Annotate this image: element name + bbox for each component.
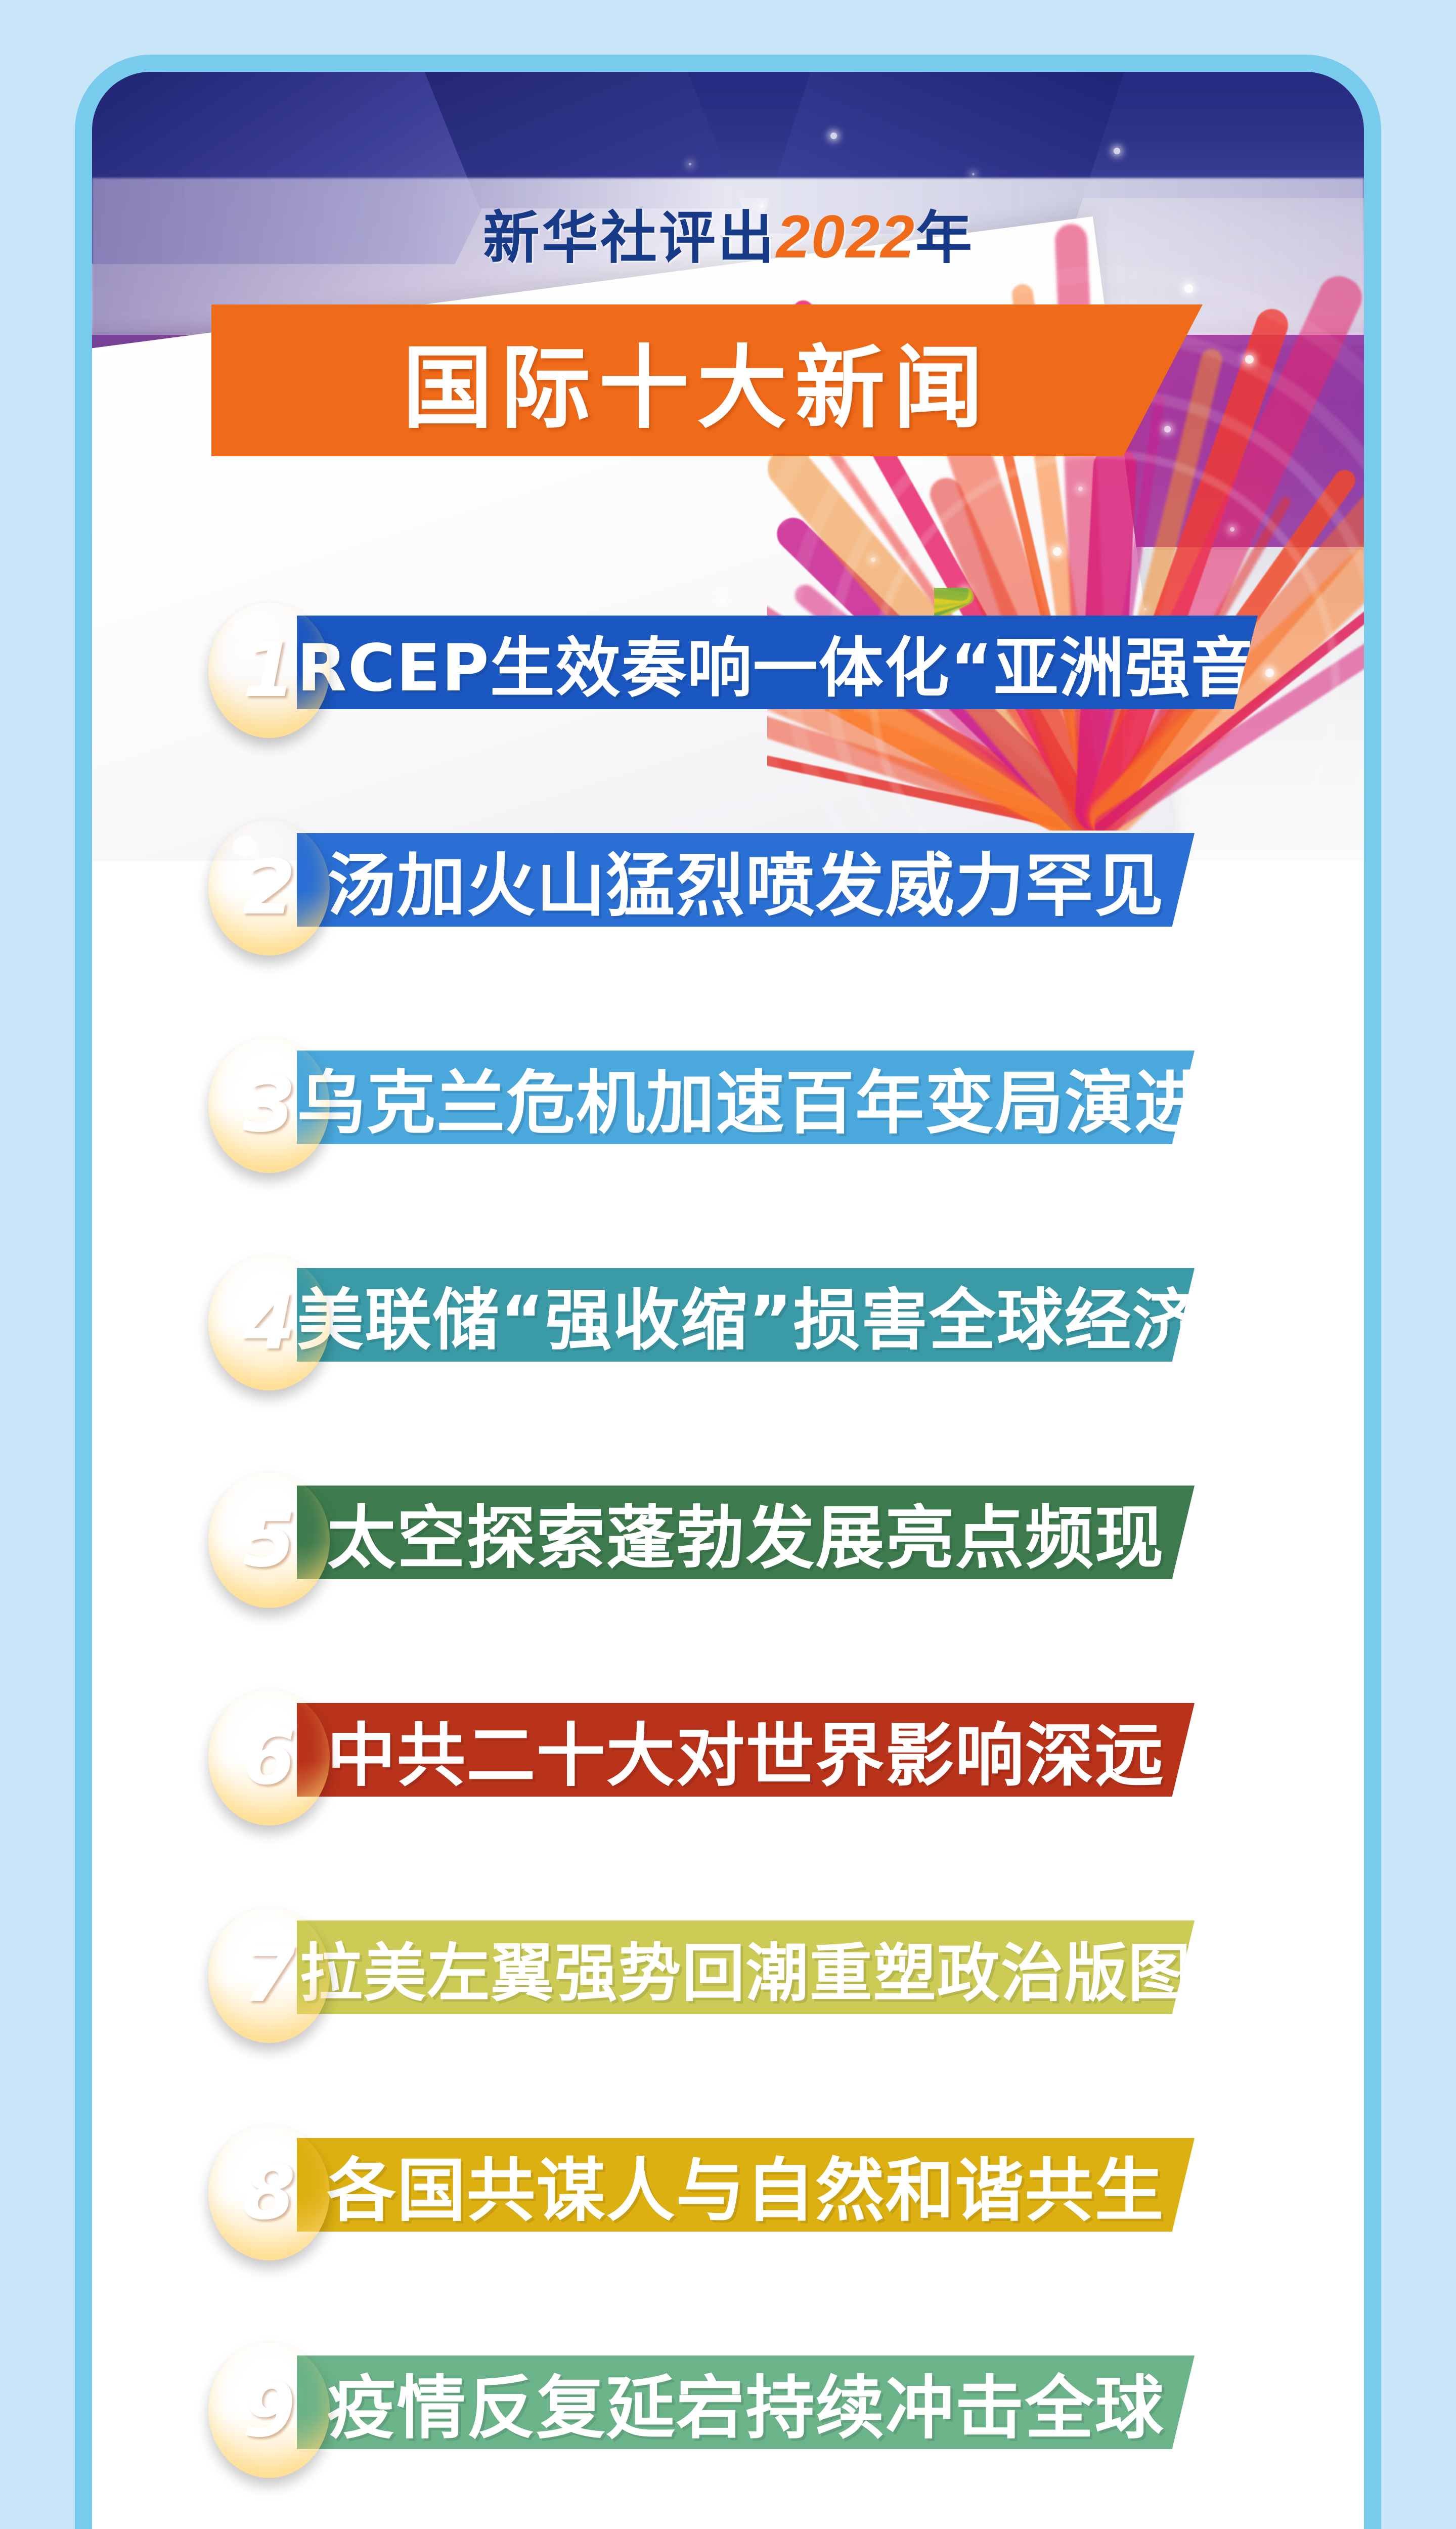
sparkle [830, 133, 837, 139]
rank-number: 5 [243, 1502, 295, 1578]
news-title: 汤加火山猛烈喷发威力罕见 [327, 830, 1165, 930]
news-item[interactable]: 汤加火山猛烈喷发威力罕见2 [92, 833, 1364, 1051]
news-item[interactable]: 美联储“强收缩”损害全球经济4 [92, 1268, 1364, 1486]
sparkle [689, 163, 691, 165]
banner-title-text: 国际十大新闻 [403, 316, 991, 446]
news-item[interactable]: 各国共谋人与自然和谐共生8 [92, 2138, 1364, 2356]
sparkle [1114, 148, 1120, 154]
news-item[interactable]: 疫情反复延宕持续冲击全球9 [92, 2356, 1364, 2529]
sparkle [780, 517, 782, 519]
news-title: 疫情反复延宕持续冲击全球 [327, 2352, 1165, 2452]
news-bar[interactable]: 乌克兰危机加速百年变局演进 [297, 1051, 1195, 1144]
news-bar[interactable]: 汤加火山猛烈喷发威力罕见 [297, 833, 1195, 927]
rank-number: 4 [243, 1285, 295, 1361]
sparkle [1078, 487, 1083, 491]
rank-badge: 3 [208, 1037, 330, 1173]
rank-number: 1 [243, 632, 295, 708]
news-list: RCEP生效奏响一体化“亚洲强音”1汤加火山猛烈喷发威力罕见2乌克兰危机加速百年… [92, 616, 1364, 2529]
news-bar[interactable]: 各国共谋人与自然和谐共生 [297, 2138, 1195, 2232]
news-bar[interactable]: 美联储“强收缩”损害全球经济 [297, 1268, 1195, 1362]
news-bar[interactable]: 太空探索蓬勃发展亮点频现 [297, 1486, 1195, 1579]
sparkle [1053, 547, 1062, 556]
rank-number: 2 [243, 850, 295, 926]
news-item[interactable]: RCEP生效奏响一体化“亚洲强音”1 [92, 616, 1364, 833]
rank-badge: 5 [208, 1472, 330, 1608]
news-bar[interactable]: 拉美左翼强势回潮重塑政治版图 [297, 1921, 1195, 2014]
rank-badge: 7 [208, 1907, 330, 2043]
banner-title: 国际十大新闻 [211, 304, 1203, 456]
news-title: RCEP生效奏响一体化“亚洲强音” [297, 616, 1300, 709]
news-title: 乌克兰危机加速百年变局演进 [297, 1048, 1204, 1147]
title-suffix: 年 [915, 206, 973, 270]
news-item[interactable]: 拉美左翼强势回潮重塑政治版图7 [92, 1921, 1364, 2138]
rank-number: 8 [243, 2155, 295, 2231]
sparkle [871, 557, 875, 562]
sparkle [1230, 527, 1234, 532]
news-bar[interactable]: RCEP生效奏响一体化“亚洲强音” [297, 616, 1258, 709]
rank-badge: 8 [208, 2125, 330, 2260]
rank-badge: 1 [208, 602, 330, 738]
sparkle [1245, 355, 1254, 364]
rank-badge: 2 [208, 820, 330, 955]
news-title: 各国共谋人与自然和谐共生 [327, 2135, 1165, 2235]
rank-number: 3 [243, 1067, 295, 1143]
rank-number: 9 [243, 2372, 295, 2448]
news-bar[interactable]: 疫情反复延宕持续冲击全球 [297, 2356, 1195, 2449]
news-title: 太空探索蓬勃发展亮点频现 [327, 1482, 1165, 1582]
sparkle [911, 456, 920, 465]
rank-badge: 4 [208, 1255, 330, 1390]
news-title: 中共二十大对世界影响深远 [327, 1700, 1165, 1800]
sparkle [1184, 284, 1193, 293]
title-prefix: 新华社评出 [483, 205, 776, 271]
rank-badge: 6 [208, 1690, 330, 1825]
news-item[interactable]: 太空探索蓬勃发展亮点频现5 [92, 1486, 1364, 1703]
title-year: 2022 [776, 203, 915, 271]
page-title: 新华社评出2022年 [92, 192, 1364, 274]
news-bar[interactable]: 中共二十大对世界影响深远 [297, 1703, 1195, 1797]
news-item[interactable]: 乌克兰危机加速百年变局演进3 [92, 1051, 1364, 1268]
rank-badge: 9 [208, 2342, 330, 2478]
sparkle [972, 173, 975, 176]
sparkle [719, 598, 726, 604]
sparkle [1164, 426, 1171, 432]
news-title: 拉美左翼强势回潮重塑政治版图 [299, 1922, 1192, 2013]
rank-number: 7 [243, 1937, 295, 2013]
news-item[interactable]: 中共二十大对世界影响深远6 [92, 1703, 1364, 1921]
poster-frame: 新华社评出2022年 国际十大新闻 RCEP生效奏响一体化“亚洲强音”1汤加火山… [75, 55, 1381, 2529]
rank-number: 6 [243, 1720, 295, 1796]
news-title: 美联储“强收缩”损害全球经济 [297, 1267, 1200, 1363]
